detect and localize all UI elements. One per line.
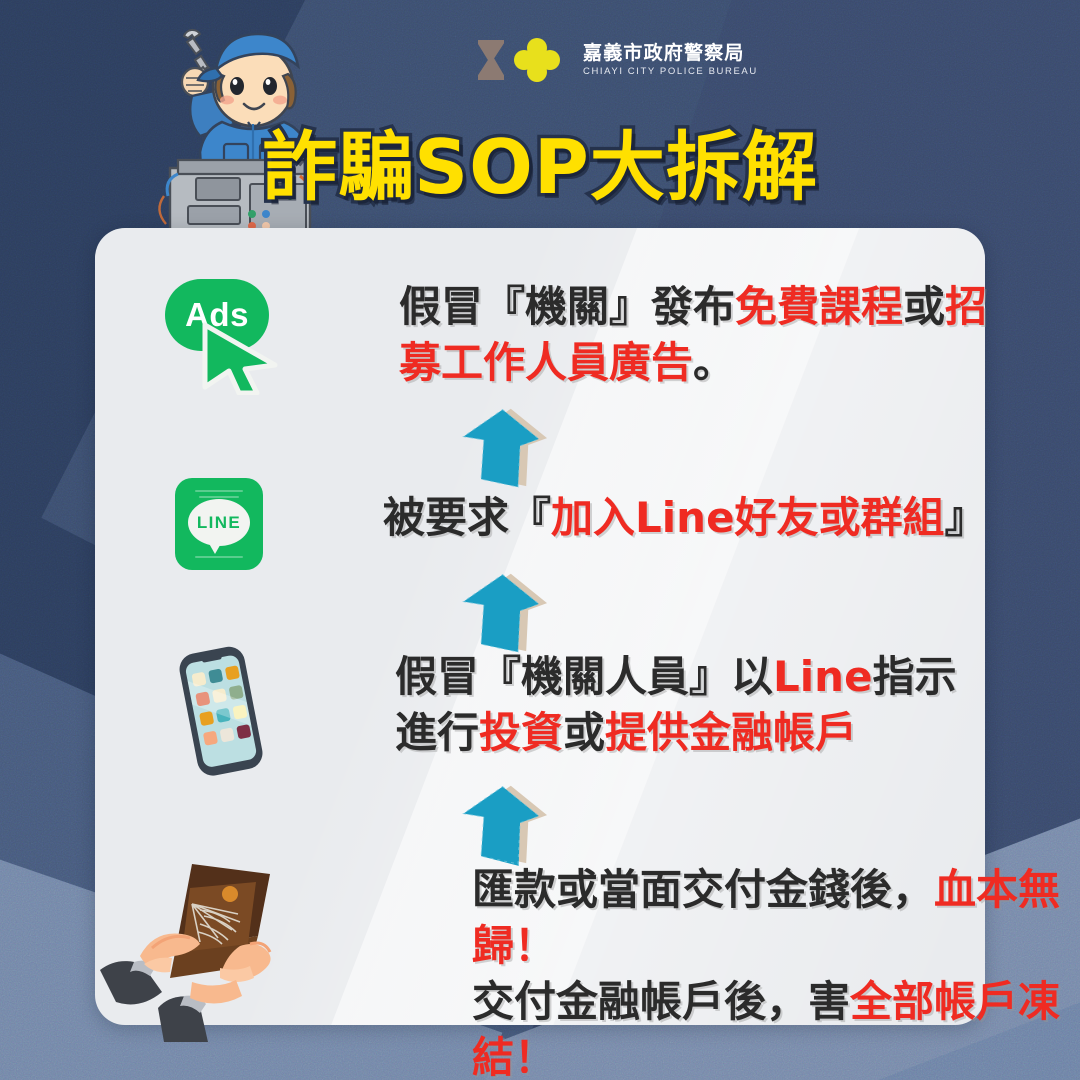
highlight-text: Line	[773, 652, 873, 701]
agency-logo: 嘉義市政府警察局 CHIAYI CITY POLICE BUREAU	[478, 38, 758, 82]
agency-name-block: 嘉義市政府警察局 CHIAYI CITY POLICE BUREAU	[583, 44, 758, 77]
body-text: 指示	[873, 652, 957, 701]
body-text: 進行	[395, 708, 479, 757]
step-1-text: 假冒『機關』發布免費課程或招募工作人員廣告。	[399, 279, 987, 391]
step-4-line-2: 交付金融帳戶後，害全部帳戶凍結！	[472, 974, 1080, 1080]
yellow-cross-icon	[514, 38, 560, 82]
body-text: 或	[563, 708, 605, 757]
step-1-line-2: 募工作人員廣告。	[399, 335, 987, 391]
police-pillar-icon	[478, 40, 504, 80]
step-3-text: 假冒『機關人員』以Line指示進行投資或提供金融帳戶	[395, 649, 957, 761]
line-decor-bar-top	[195, 490, 243, 492]
body-text: 假冒『機關』發布	[399, 282, 735, 331]
line-icon-label: LINE	[188, 499, 250, 546]
poster-root: 嘉義市政府警察局 CHIAYI CITY POLICE BUREAU 詐騙SOP…	[0, 0, 1080, 1080]
step-1-fake-agency-ads: Ads 假冒『機關』發布免費課程或招募工作人員廣告。	[165, 275, 987, 391]
highlight-text: 免費課程	[735, 282, 903, 331]
body-text: 假冒『機關人員』以	[395, 652, 773, 701]
empty-wallet-in-hands-icon	[100, 852, 280, 1047]
step-3-line-instructions: 假冒『機關人員』以Line指示進行投資或提供金融帳戶	[172, 645, 957, 782]
step-4-line-1: 匯款或當面交付金錢後，血本無歸！	[472, 862, 1080, 974]
step-4-text: 匯款或當面交付金錢後，血本無歸！交付金融帳戶後，害全部帳戶凍結！	[472, 862, 1080, 1080]
highlight-text: 募工作人員廣告	[399, 338, 693, 387]
police-emblem-mark	[478, 38, 574, 82]
ads-icon: Ads	[165, 275, 277, 379]
step-3-line-1: 假冒『機關人員』以Line指示	[395, 649, 957, 705]
step-4-money-lost: 匯款或當面交付金錢後，血本無歸！交付金融帳戶後，害全部帳戶凍結！	[100, 852, 1080, 1080]
line-icon: LINE	[175, 478, 263, 570]
step-1-line-1: 假冒『機關』發布免費課程或招	[399, 279, 987, 335]
agency-name-en: CHIAYI CITY POLICE BUREAU	[583, 67, 758, 77]
body-text: 被要求『	[383, 493, 551, 542]
body-text: 匯款或當面交付金錢後，	[472, 865, 934, 914]
highlight-text: 加入Line好友或群組	[551, 493, 945, 542]
line-decor-bar-bottom	[195, 556, 243, 558]
body-text: 。	[693, 338, 735, 387]
highlight-text: 提供金融帳戶	[605, 708, 857, 757]
step-2-line-1: 被要求『加入Line好友或群組』	[383, 490, 987, 546]
page-title: 詐騙SOP大拆解	[0, 106, 1080, 215]
wallet-hands-illustration	[100, 852, 280, 1042]
smartphone-illustration	[172, 645, 272, 777]
body-text: 』	[945, 493, 987, 542]
step-2-text: 被要求『加入Line好友或群組』	[383, 490, 987, 546]
agency-name-cn: 嘉義市政府警察局	[583, 44, 758, 63]
highlight-text: 投資	[479, 708, 563, 757]
step-3-line-2: 進行投資或提供金融帳戶	[395, 705, 957, 761]
body-text: 交付金融帳戶後，害	[472, 977, 850, 1026]
body-text: 或	[903, 282, 945, 331]
line-decor-bar-top2	[199, 496, 239, 498]
smartphone-icon	[172, 645, 272, 782]
step-2-add-line-friend: LINE 被要求『加入Line好友或群組』	[175, 478, 987, 570]
highlight-text: 招	[945, 282, 987, 331]
cursor-arrow-icon	[199, 321, 285, 395]
